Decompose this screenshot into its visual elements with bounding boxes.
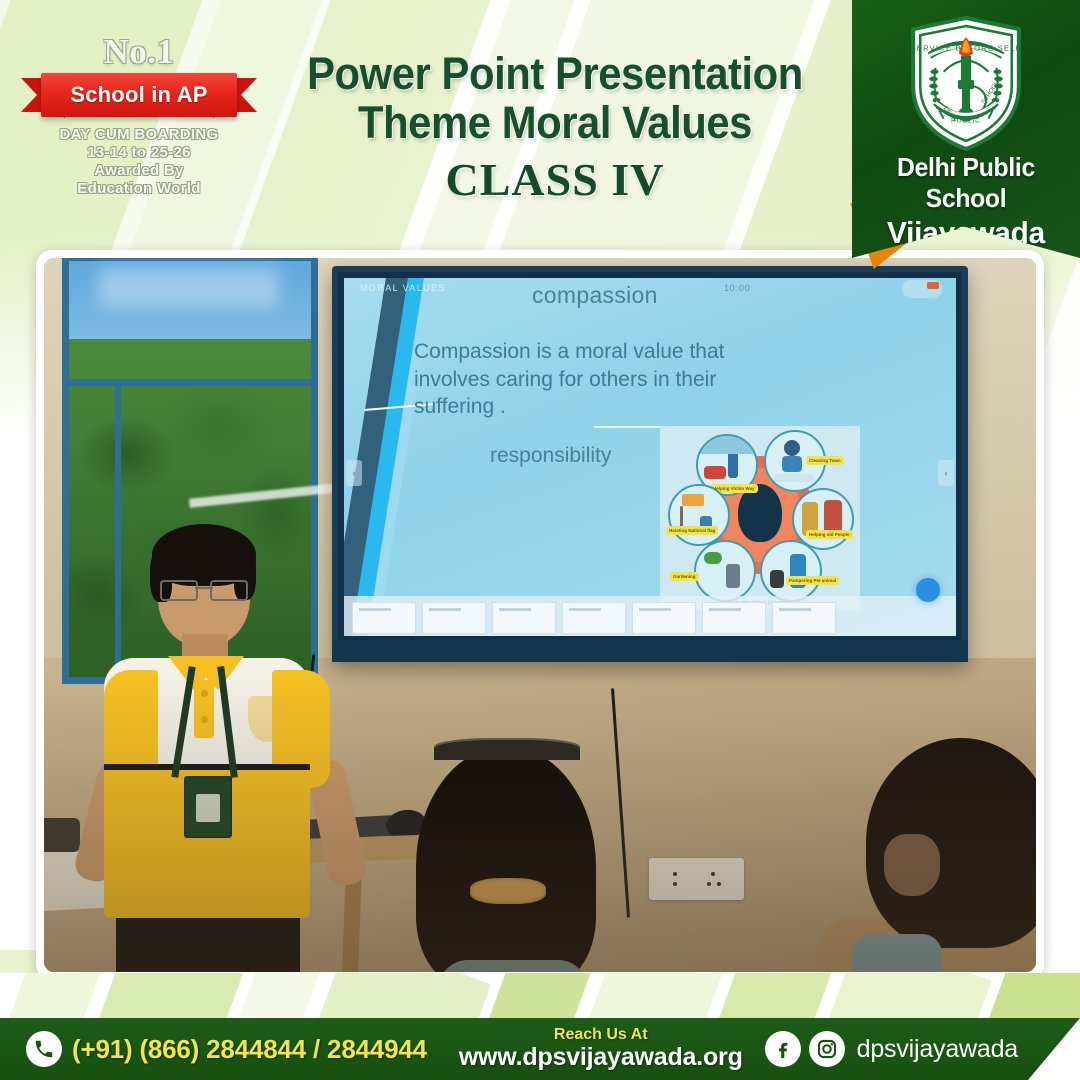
- title-line-2: Theme Moral Values: [276, 99, 834, 148]
- school-name-line-1: Delhi Public School: [858, 152, 1075, 214]
- infographic-tag: Helping old People: [806, 530, 853, 539]
- slide-thumbnail[interactable]: [632, 602, 696, 634]
- board-status-indicator: [916, 578, 940, 602]
- slide-filmstrip[interactable]: [344, 596, 956, 636]
- footer-decoration-stripes: [0, 973, 1080, 1018]
- slide-share-icon[interactable]: [902, 280, 942, 298]
- facebook-icon[interactable]: [765, 1031, 801, 1067]
- student-glasses: [160, 580, 248, 598]
- window-glare: [99, 267, 279, 307]
- infographic-bubble: [694, 540, 756, 602]
- poster-root: No.1 School in AP DAY CUM BOARDING 13-14…: [0, 0, 1080, 1080]
- instagram-icon[interactable]: [809, 1031, 845, 1067]
- infographic-tag: Pampering Pet animal: [786, 576, 839, 585]
- slide-heading: compassion: [532, 282, 658, 309]
- page-title: Power Point Presentation Theme Moral Val…: [255, 50, 855, 206]
- photo-card: MORAL VALUES 10:00 compassion Compassion…: [36, 250, 1044, 980]
- slide-thumbnail[interactable]: [562, 602, 626, 634]
- award-line-4: Education World: [24, 180, 254, 198]
- award-subtext: DAY CUM BOARDING 13-14 to 25-26 Awarded …: [24, 126, 254, 198]
- footer-website-block[interactable]: Reach Us At www.dpsvijayawada.org: [437, 1026, 765, 1072]
- slide-subheading: responsibility: [490, 444, 611, 468]
- infographic-tag: Hoisting National flag: [666, 526, 718, 535]
- school-crest-icon: SERVICE BEFORE SELF: [905, 14, 1027, 154]
- award-badge: No.1 School in AP DAY CUM BOARDING 13-14…: [24, 34, 254, 198]
- slide-thumbnail[interactable]: [772, 602, 836, 634]
- window-mullion-horizontal: [69, 379, 311, 386]
- footer-phone-block[interactable]: (+91) (866) 2844844 / 2844944: [26, 1031, 427, 1067]
- svg-text:PUBLIC: PUBLIC: [951, 118, 981, 125]
- infographic-bubble: [760, 540, 822, 602]
- smart-board-foot: [332, 640, 968, 662]
- school-logo-banner: SERVICE BEFORE SELF: [852, 0, 1080, 258]
- class-label: CLASS IV: [255, 153, 855, 206]
- slide-thumbnail[interactable]: [492, 602, 556, 634]
- infographic-bubble: [792, 488, 854, 550]
- slide-thumbnail[interactable]: [422, 602, 486, 634]
- slide-app-label: MORAL VALUES: [360, 283, 446, 293]
- footer-website-url: www.dpsvijayawada.org: [437, 1043, 765, 1072]
- smart-board: MORAL VALUES 10:00 compassion Compassion…: [332, 266, 968, 662]
- ribbon-body: School in AP: [41, 73, 237, 117]
- infographic-tag: Gardening: [670, 572, 699, 581]
- footer-phone-number: (+91) (866) 2844844 / 2844944: [72, 1034, 427, 1065]
- award-line-2: 13-14 to 25-26: [24, 144, 254, 162]
- photo-vignette: [44, 672, 1036, 972]
- presentation-screen: MORAL VALUES 10:00 compassion Compassion…: [344, 278, 956, 636]
- moral-values-infographic: Helping Victim Way Cleaning Town Helping…: [660, 426, 860, 610]
- footer-social-handle: dpsvijayawada: [857, 1035, 1018, 1064]
- phone-icon: [26, 1031, 62, 1067]
- classroom-photo: MORAL VALUES 10:00 compassion Compassion…: [44, 258, 1036, 972]
- award-rank-label: No.1: [24, 34, 254, 69]
- award-line-1: DAY CUM BOARDING: [24, 126, 254, 144]
- infographic-tag: Cleaning Town: [806, 456, 844, 465]
- slide-rule: [594, 426, 664, 428]
- slide-next-button[interactable]: ›: [346, 460, 362, 486]
- contact-footer: (+91) (866) 2844844 / 2844944 Reach Us A…: [0, 1018, 1080, 1080]
- slide-thumbnail[interactable]: [702, 602, 766, 634]
- slide-timer: 10:00: [724, 283, 751, 293]
- slide-body-text: Compassion is a moral value that involve…: [414, 338, 754, 421]
- infographic-bubble: [668, 484, 730, 546]
- title-line-1: Power Point Presentation: [276, 50, 834, 99]
- reach-us-label: Reach Us At: [437, 1026, 765, 1044]
- award-ribbon: School in AP: [41, 73, 237, 117]
- award-line-3: Awarded By: [24, 162, 254, 180]
- ribbon-label: School in AP: [70, 82, 207, 108]
- slide-prev-button[interactable]: ‹: [938, 460, 954, 486]
- footer-social-block[interactable]: dpsvijayawada: [765, 1031, 1018, 1067]
